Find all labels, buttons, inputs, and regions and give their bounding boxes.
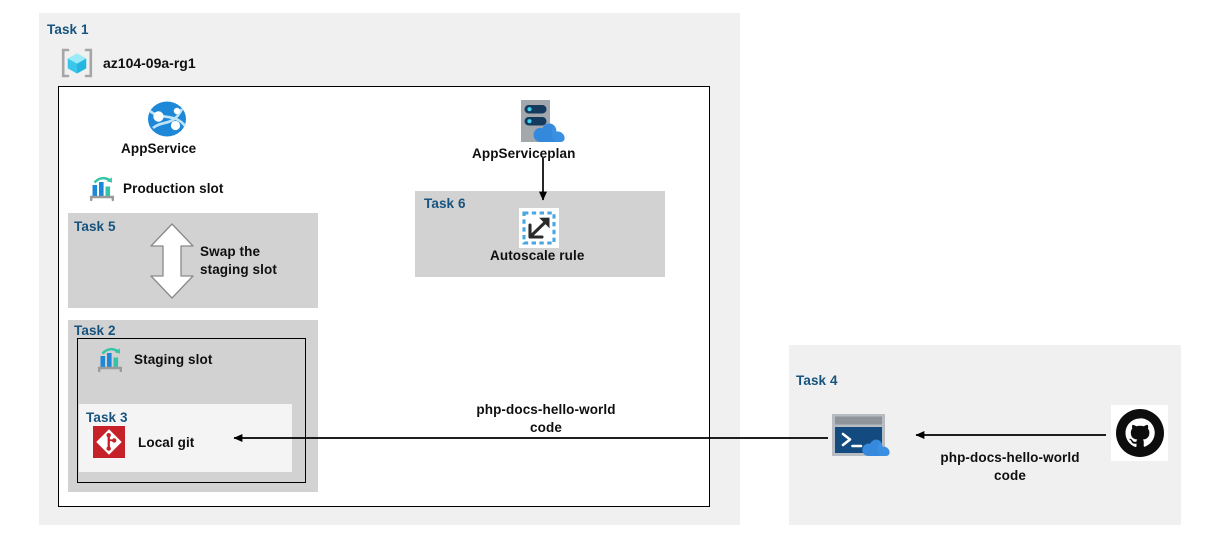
staging-slot-row: Staging slot	[96, 345, 212, 373]
code-flow-caption-line1: php-docs-hello-world	[463, 401, 629, 419]
production-slot-row: Production slot	[88, 174, 224, 202]
task6-label: Task 6	[424, 196, 466, 211]
code-flow-caption: php-docs-hello-world code	[463, 401, 629, 437]
github-icon	[1111, 405, 1168, 461]
app-service-plan-icon	[512, 98, 574, 150]
github-code-caption: php-docs-hello-world code	[930, 449, 1090, 485]
autoscale-rule-label: Autoscale rule	[490, 248, 584, 263]
resource-group-name: az104-09a-rg1	[103, 55, 196, 71]
swap-annotation-line1: Swap the	[200, 243, 277, 261]
task4-label: Task 4	[796, 373, 838, 388]
staging-slot-label: Staging slot	[134, 352, 212, 367]
swap-annotation: Swap the staging slot	[200, 243, 277, 279]
task1-label: Task 1	[47, 22, 89, 37]
swap-double-arrow-icon	[148, 222, 196, 300]
task5-label: Task 5	[74, 219, 116, 234]
resource-group-row: az104-09a-rg1	[60, 47, 196, 79]
app-service-label: AppService	[121, 141, 196, 156]
app-service-plan-label: AppServiceplan	[472, 146, 575, 161]
production-slot-label: Production slot	[123, 181, 224, 196]
resource-group-icon	[60, 47, 94, 79]
local-git-label: Local git	[138, 435, 194, 450]
github-code-caption-line1: php-docs-hello-world	[930, 449, 1090, 467]
swap-annotation-line2: staging slot	[200, 261, 277, 279]
task3-label: Task 3	[86, 410, 128, 425]
local-git-row: Local git	[93, 426, 194, 458]
cloud-shell-icon	[831, 412, 905, 464]
deployment-slot-icon	[88, 174, 116, 202]
task2-label: Task 2	[74, 323, 116, 338]
git-icon	[93, 426, 125, 458]
github-code-caption-line2: code	[930, 467, 1090, 485]
autoscale-icon	[519, 208, 559, 248]
deployment-slot-icon	[96, 345, 124, 373]
code-flow-caption-line2: code	[463, 419, 629, 437]
app-service-icon	[146, 100, 188, 138]
